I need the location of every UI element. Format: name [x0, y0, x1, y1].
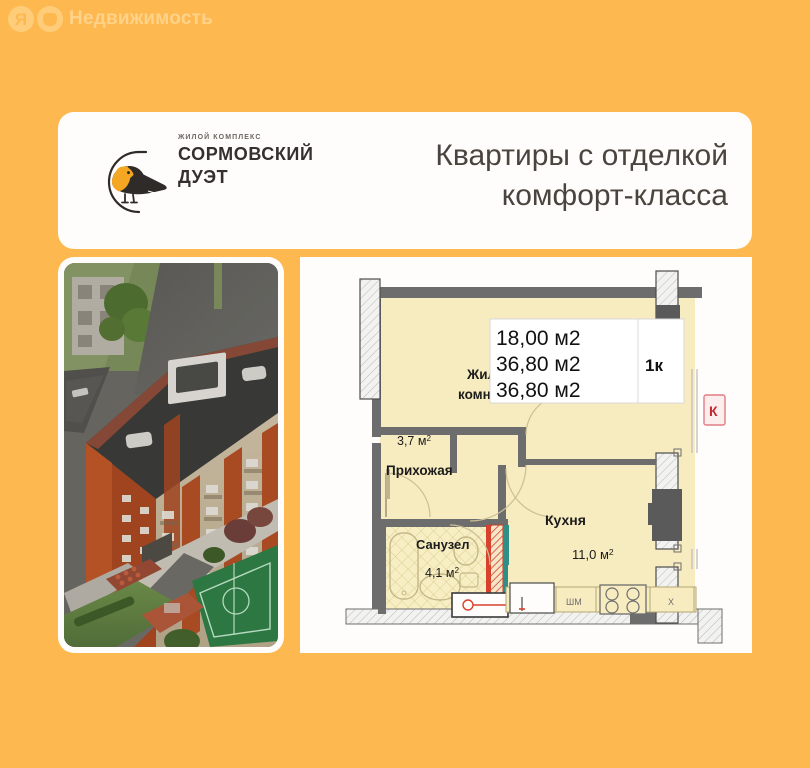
page-title-line2: комфорт-класса — [308, 176, 728, 216]
realty-mark-icon — [37, 6, 63, 32]
complex-name-line2: ДУЭТ — [178, 167, 314, 187]
brand-bar[interactable]: Я Недвижимость — [8, 6, 213, 32]
floor-plan-drawing-icon: 18,0 м2 Жилая комната 3,7 м2 Прихожая Са… — [300, 257, 752, 653]
room-name-kitchen: Кухня — [545, 512, 586, 528]
room-name-hall: Прихожая — [386, 463, 453, 478]
building-aerial-photo-icon — [64, 263, 278, 647]
yandex-realty-logo-icon: Я — [8, 6, 63, 32]
room-area-kitchen: 11,0 м2 — [572, 547, 614, 562]
summary-line2: 36,80 м2 — [496, 353, 581, 376]
complex-name-block: ЖИЛОЙ КОМПЛЕКС СОРМОВСКИЙ ДУЭТ — [178, 134, 314, 187]
building-photo — [64, 263, 278, 647]
appliance-label-dishwasher: ШМ — [566, 597, 582, 607]
floor-plan-card[interactable]: 18,0 м2 Жилая комната 3,7 м2 Прихожая Са… — [300, 257, 752, 653]
summary-line3: 36,80 м2 — [496, 379, 581, 402]
yandex-letter-icon: Я — [8, 6, 34, 32]
area-summary-box: 18,00 м2 36,80 м2 36,80 м2 1к — [490, 319, 684, 403]
floor-plan: 18,0 м2 Жилая комната 3,7 м2 Прихожая Са… — [300, 257, 752, 653]
balcony-marker: К — [704, 395, 725, 425]
building-photo-card[interactable] — [58, 257, 284, 653]
complex-name-line1: СОРМОВСКИЙ — [178, 144, 314, 164]
room-name-bath: Санузел — [416, 537, 469, 552]
balcony-marker-label: К — [709, 403, 718, 419]
room-area-hall: 3,7 м2 — [397, 434, 431, 448]
page-title-line1: Квартиры с отделкой — [308, 136, 728, 176]
page-title: Квартиры с отделкой комфорт-класса — [308, 136, 728, 216]
summary-line1: 18,00 м2 — [496, 327, 581, 350]
complex-kicker: ЖИЛОЙ КОМПЛЕКС — [178, 134, 314, 141]
summary-badge: 1к — [645, 356, 663, 375]
header-card: ЖИЛОЙ КОМПЛЕКС СОРМОВСКИЙ ДУЭТ Квартиры … — [58, 112, 752, 249]
page-root: Я Недвижимость — [0, 0, 810, 768]
room-area-bath: 4,1 м2 — [425, 566, 459, 580]
appliance-label-fridge: Х — [668, 597, 674, 607]
brand-name: Недвижимость — [69, 8, 213, 30]
